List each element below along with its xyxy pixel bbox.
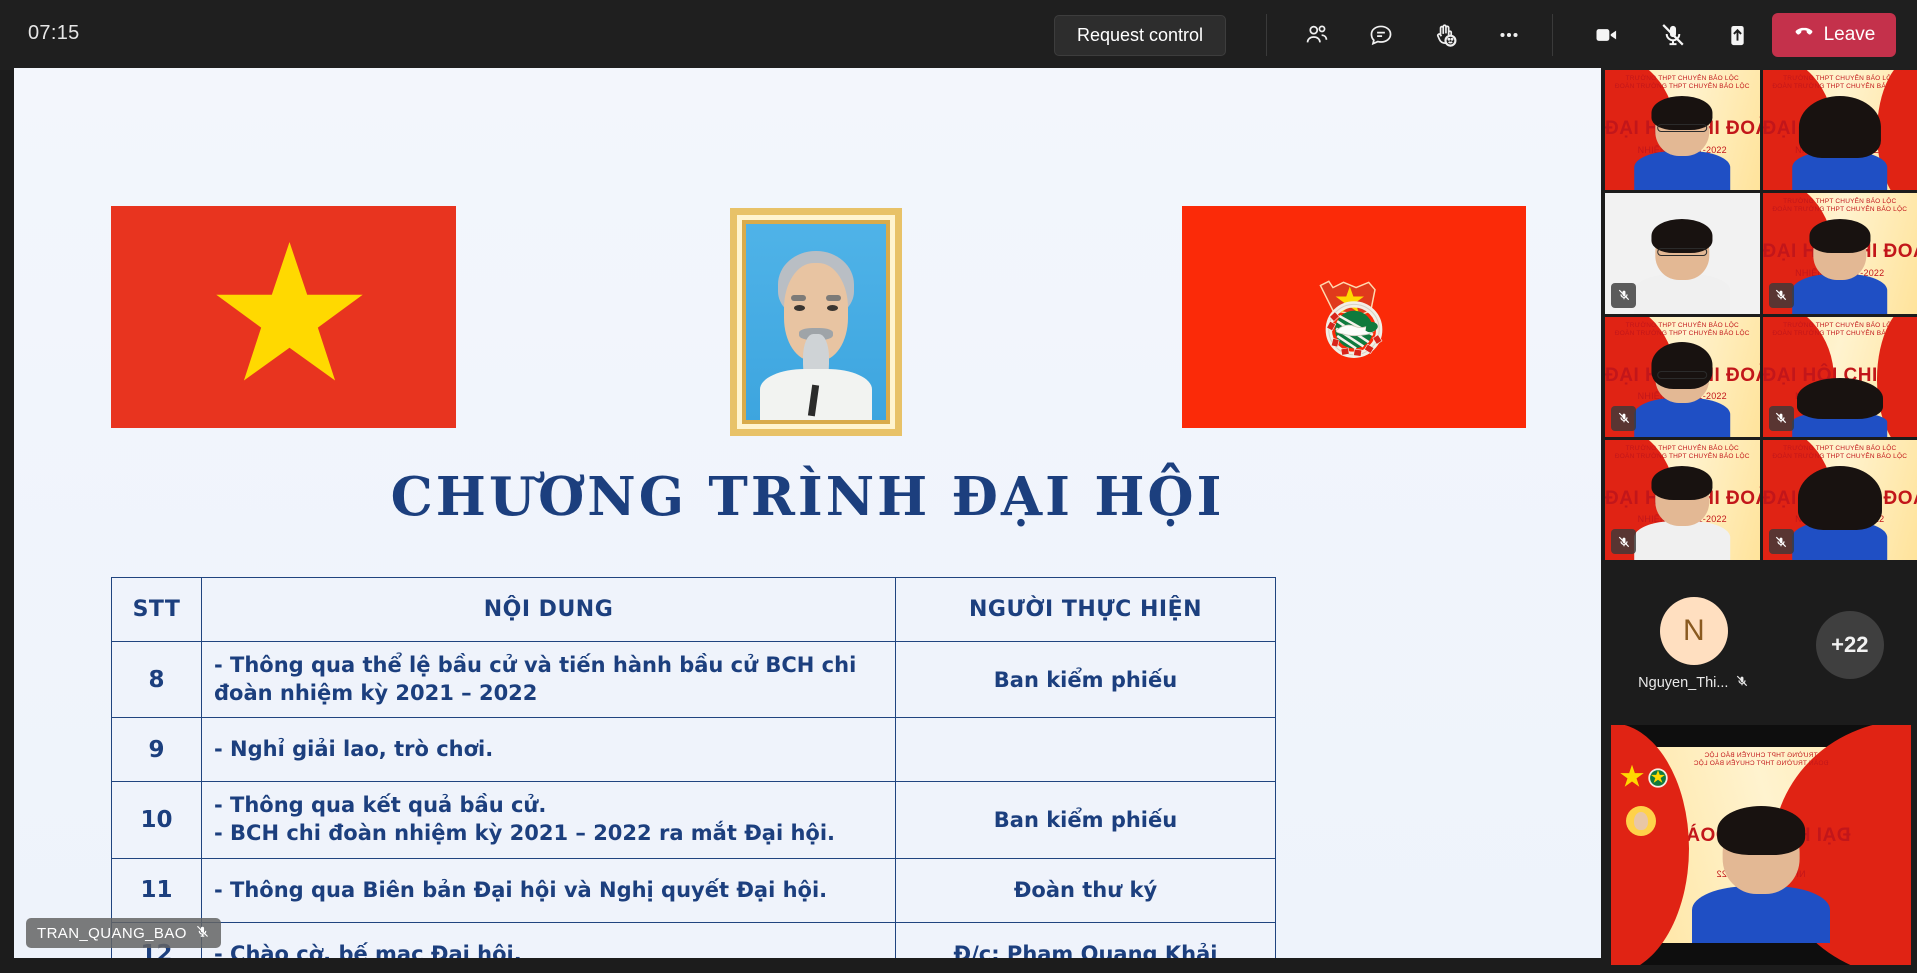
table-row: 10 - Thông qua kết quả bầu cử.- BCH chi … [112,782,1276,858]
cell-nguoi: Đ/c: Phạm Quang Khải [896,922,1276,958]
col-header-stt: STT [112,578,202,642]
microphone-muted-icon [195,924,210,943]
presenter-name-label: TRAN_QUANG_BAO [37,925,187,942]
tile-bg-line2: ĐOÀN TRƯỜNG THPT CHUYÊN BẢO LỘC [1763,206,1917,213]
tile-bg-line1: TRƯỜNG THPT CHUYÊN BẢO LỘC [1763,322,1917,329]
more-options-icon[interactable] [1486,12,1532,58]
tile-bg-line1: TRƯỜNG THPT CHUYÊN BẢO LỘC [1611,752,1911,759]
participant-video [1792,381,1888,436]
cell-stt: 10 [112,782,202,858]
tile-bg-line2: ĐOÀN TRƯỜNG THPT CHUYÊN BẢO LỘC [1763,330,1917,337]
vietnam-flag [111,206,456,428]
tile-bg-line1: TRƯỜNG THPT CHUYÊN BẢO LỘC [1763,198,1917,205]
presenter-name-badge: TRAN_QUANG_BAO [26,918,221,948]
cell-noidung: - Thông qua kết quả bầu cử.- BCH chi đoà… [202,782,896,858]
table-row: 12 - Chào cờ, bế mạc Đại hội. Đ/c: Phạm … [112,922,1276,958]
chat-icon[interactable] [1358,12,1404,58]
microphone-muted-icon [1769,529,1794,554]
ho-chi-minh-portrait [730,208,902,436]
video-tile[interactable]: TRƯỜNG THPT CHUYÊN BẢO LỘC ĐOÀN TRƯỜNG T… [1763,440,1917,560]
tile-bg-line1: TRƯỜNG THPT CHUYÊN BẢO LỘC [1763,445,1917,452]
youth-union-emblem-icon [1302,265,1407,370]
participant-video [1634,348,1730,437]
microphone-muted-icon [1769,283,1794,308]
video-tile[interactable]: TRƯỜNG THPT CHUYÊN BẢO LỘC ĐOÀN TRƯỜNG T… [1605,70,1760,190]
tile-bg-line2: ĐOÀN TRƯỜNG THPT CHUYÊN BẢO LỘC [1763,83,1917,90]
avatar-name-label: Nguyen_Thi... [1638,675,1728,691]
leave-button[interactable]: Leave [1772,13,1896,57]
cell-noidung: - Nghỉ giải lao, trò chơi. [202,718,896,782]
tile-bg-line1: TRƯỜNG THPT CHUYÊN BẢO LỘC [1605,75,1760,82]
participant-video [1634,471,1730,560]
yellow-star-icon [215,242,365,392]
participant-video [1792,101,1888,190]
microphone-muted-icon [1611,406,1636,431]
meeting-toolbar: 07:15 Request control [0,0,1917,70]
video-tile[interactable]: TRƯỜNG THPT CHUYÊN BẢO LỘC ĐOÀN TRƯỜNG T… [1605,317,1760,437]
request-control-button[interactable]: Request control [1054,15,1226,56]
participant-video [1634,225,1730,314]
avatar: N [1660,597,1728,665]
col-header-nguoi: NGƯỜI THỰC HIỆN [896,578,1276,642]
youth-union-flag [1182,206,1526,428]
participant-video [1634,101,1730,190]
video-tile[interactable] [1605,193,1760,313]
table-row: 8 - Thông qua thể lệ bầu cử và tiến hành… [112,642,1276,718]
avatar-name-row: Nguyen_Thi... [1638,674,1749,692]
participant-video [1792,471,1888,560]
leave-label: Leave [1824,24,1876,46]
camera-icon[interactable] [1584,12,1630,58]
participant-video [1792,225,1888,314]
microphone-muted-icon [1611,283,1636,308]
tile-bg-line1: TRƯỜNG THPT CHUYÊN BẢO LỘC [1763,75,1917,82]
cell-stt: 9 [112,718,202,782]
avatar-row: N Nguyen_Thi... +22 [1605,567,1917,722]
shared-content-stage: CHƯƠNG TRÌNH ĐẠI HỘI STT NỘI DUNG NGƯỜI … [0,70,1605,973]
tile-bg-line2: ĐOÀN TRƯỜNG THPT CHUYÊN BẢO LỘC [1605,83,1760,90]
tile-bg-line2: ĐOÀN TRƯỜNG THPT CHUYÊN BẢO LỘC [1605,330,1760,337]
microphone-muted-icon [1735,674,1749,692]
microphone-muted-icon [1611,529,1636,554]
clock: 07:15 [28,22,80,45]
self-video-person [1692,814,1830,943]
table-row: 9 - Nghỉ giải lao, trò chơi. [112,718,1276,782]
share-icon[interactable] [1714,12,1760,58]
people-icon[interactable] [1294,12,1340,58]
raise-hand-reactions-icon[interactable] [1422,12,1468,58]
tile-bg-line1: TRƯỜNG THPT CHUYÊN BẢO LỘC [1605,322,1760,329]
overflow-participants-tile[interactable]: +22 [1816,611,1884,679]
overflow-count-badge: +22 [1816,611,1884,679]
self-video-tile[interactable]: TRƯỜNG THPT CHUYÊN BẢO LỘC ĐOÀN TRƯỜNG T… [1611,725,1911,965]
page-title: CHƯƠNG TRÌNH ĐẠI HỘI [14,466,1601,528]
video-tile-grid: TRƯỜNG THPT CHUYÊN BẢO LỘC ĐOÀN TRƯỜNG T… [1605,70,1917,560]
video-tile[interactable]: TRƯỜNG THPT CHUYÊN BẢO LỘC ĐOÀN TRƯỜNG T… [1763,317,1917,437]
cell-stt: 8 [112,642,202,718]
presentation-slide: CHƯƠNG TRÌNH ĐẠI HỘI STT NỘI DUNG NGƯỜI … [14,68,1601,958]
cell-noidung: - Chào cờ, bế mạc Đại hội. [202,922,896,958]
table-header-row: STT NỘI DUNG NGƯỜI THỰC HIỆN [112,578,1276,642]
tile-bg-line1: TRƯỜNG THPT CHUYÊN BẢO LỘC [1605,445,1760,452]
microphone-muted-icon [1769,406,1794,431]
cell-noidung: - Thông qua thể lệ bầu cử và tiến hành b… [202,642,896,718]
cell-nguoi: Ban kiểm phiếu [896,642,1276,718]
video-tile[interactable]: TRƯỜNG THPT CHUYÊN BẢO LỘC ĐOÀN TRƯỜNG T… [1763,70,1917,190]
cell-noidung: - Thông qua Biên bản Đại hội và Nghị quy… [202,858,896,922]
cell-nguoi: Đoàn thư ký [896,858,1276,922]
toolbar-divider-left [1266,14,1267,56]
youth-union-emblem-icon [1647,767,1669,789]
cell-nguoi: Ban kiểm phiếu [896,782,1276,858]
video-tile[interactable]: TRƯỜNG THPT CHUYÊN BẢO LỘC ĐOÀN TRƯỜNG T… [1763,193,1917,313]
call-end-icon [1793,21,1815,49]
col-header-noidung: NỘI DUNG [202,578,896,642]
participant-rail: TRƯỜNG THPT CHUYÊN BẢO LỘC ĐOÀN TRƯỜNG T… [1605,70,1917,973]
video-tile[interactable]: TRƯỜNG THPT CHUYÊN BẢO LỘC ĐOÀN TRƯỜNG T… [1605,440,1760,560]
microphone-muted-icon[interactable] [1650,12,1696,58]
cell-nguoi [896,718,1276,782]
tile-bg-line2: ĐOÀN TRƯỜNG THPT CHUYÊN BẢO LỘC [1763,453,1917,460]
ho-chi-minh-badge-icon [1626,806,1656,836]
cell-stt: 11 [112,858,202,922]
program-table: STT NỘI DUNG NGƯỜI THỰC HIỆN 8 - Thông q… [111,577,1276,958]
participant-avatar-tile[interactable]: N Nguyen_Thi... [1638,597,1749,692]
table-row: 11 - Thông qua Biên bản Đại hội và Nghị … [112,858,1276,922]
tile-bg-line2: ĐOÀN TRƯỜNG THPT CHUYÊN BẢO LỘC [1605,453,1760,460]
toolbar-divider-right [1552,14,1553,56]
